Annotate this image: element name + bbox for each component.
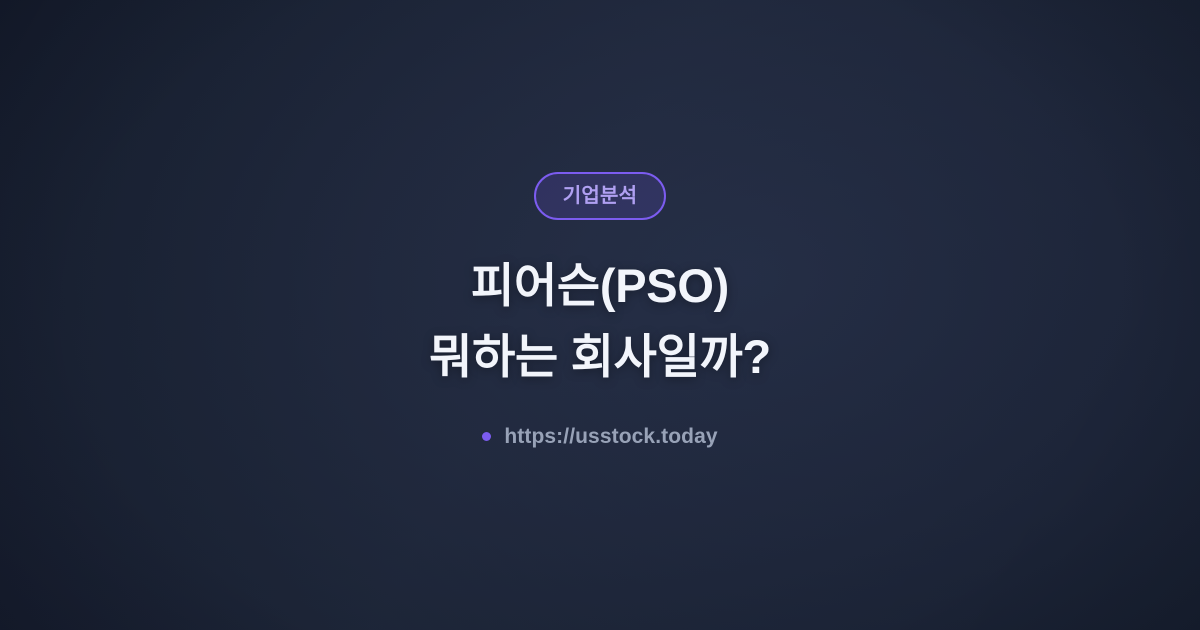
og-share-card: 기업분석 피어슨(PSO) 뭐하는 회사일까? https://usstock.… — [0, 0, 1200, 630]
site-url-row: https://usstock.today — [482, 426, 717, 447]
site-url-label: https://usstock.today — [504, 426, 717, 447]
page-title-line-1: 피어슨(PSO) — [429, 251, 771, 321]
bullet-dot-icon — [482, 432, 491, 441]
category-badge-label: 기업분석 — [563, 186, 637, 206]
card-content: 기업분석 피어슨(PSO) 뭐하는 회사일까? https://usstock.… — [0, 0, 1200, 630]
page-title-line-2: 뭐하는 회사일까? — [429, 322, 771, 392]
page-title: 피어슨(PSO) 뭐하는 회사일까? — [429, 251, 771, 391]
category-badge: 기업분석 — [534, 172, 666, 220]
